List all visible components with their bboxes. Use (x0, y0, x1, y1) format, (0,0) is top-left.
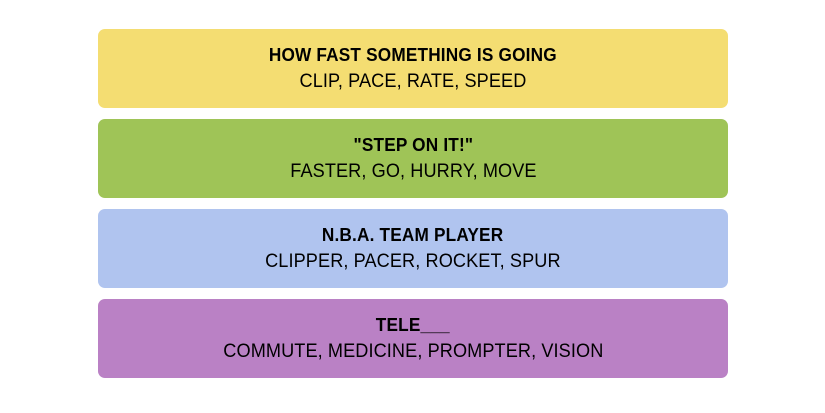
category-title: N.B.A. TEAM PLAYER (322, 224, 503, 246)
category-card-blue[interactable]: N.B.A. TEAM PLAYER CLIPPER, PACER, ROCKE… (98, 209, 728, 288)
category-members: COMMUTE, MEDICINE, PROMPTER, VISION (223, 339, 603, 363)
category-members: FASTER, GO, HURRY, MOVE (290, 159, 536, 183)
category-members: CLIP, PACE, RATE, SPEED (300, 69, 527, 93)
category-members: CLIPPER, PACER, ROCKET, SPUR (265, 249, 561, 273)
category-card-green[interactable]: "STEP ON IT!" FASTER, GO, HURRY, MOVE (98, 119, 728, 198)
connections-solution-board: HOW FAST SOMETHING IS GOING CLIP, PACE, … (98, 29, 728, 378)
category-title: TELE___ (376, 314, 450, 336)
category-card-yellow[interactable]: HOW FAST SOMETHING IS GOING CLIP, PACE, … (98, 29, 728, 108)
category-title: "STEP ON IT!" (353, 134, 473, 156)
category-card-purple[interactable]: TELE___ COMMUTE, MEDICINE, PROMPTER, VIS… (98, 299, 728, 378)
category-title: HOW FAST SOMETHING IS GOING (269, 44, 557, 66)
